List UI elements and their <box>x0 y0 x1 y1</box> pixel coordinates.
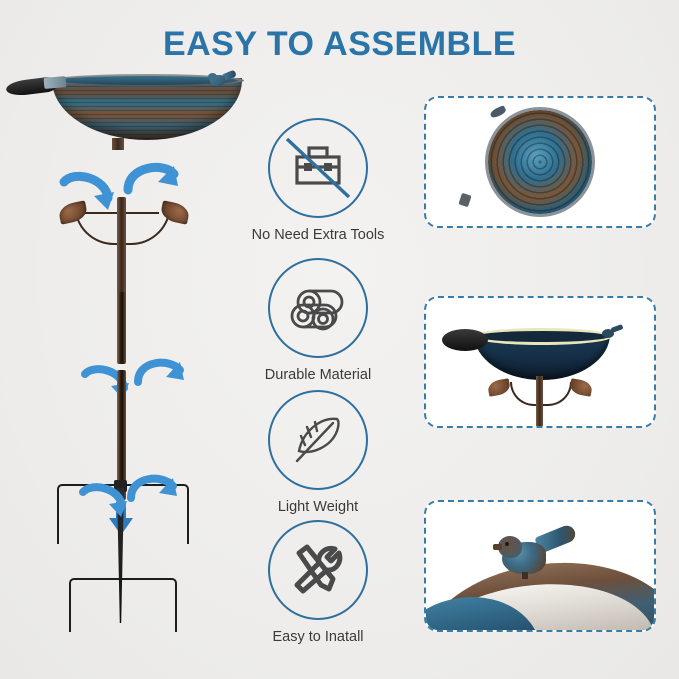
feature-light-weight: Light Weight <box>232 390 404 515</box>
bowl-rim-ring <box>472 328 612 345</box>
leaf-ornament-right <box>569 378 593 397</box>
bird-figurine-icon <box>489 105 507 119</box>
feather-icon <box>268 390 368 490</box>
feature-label: Easy to Inatall <box>232 629 404 645</box>
feature-easy-to-install: Easy to Inatall <box>232 520 404 645</box>
pipes-icon <box>268 258 368 358</box>
panel-bird-closeup <box>424 500 656 632</box>
assembly-step-leaf-pole <box>55 175 195 305</box>
product-photo-panels <box>424 96 656 656</box>
rotate-arrow-icon <box>78 482 130 520</box>
panel-assembled-side-view <box>424 296 656 428</box>
feature-label: Durable Material <box>232 367 404 383</box>
leaf-ornament-left <box>487 378 511 397</box>
page-title: EASY TO ASSEMBLE <box>0 25 679 64</box>
leaf-pole-stem <box>117 197 126 305</box>
bird-figurine-icon <box>208 72 234 86</box>
feature-durable-material: Durable Material <box>232 258 404 383</box>
stake-leg-lower <box>69 578 177 632</box>
bowl-threaded-neck <box>112 138 124 150</box>
rotate-arrow-icon <box>123 468 179 508</box>
panel-bowl-top-view <box>424 96 656 228</box>
support-pole <box>536 376 543 426</box>
feature-label: No Need Extra Tools <box>232 227 404 243</box>
bird-figurine-closeup <box>498 530 576 580</box>
assembly-step-pole-upper <box>117 292 126 364</box>
feature-label: Light Weight <box>232 499 404 515</box>
birdbath-assembly-diagram <box>0 70 245 670</box>
rotate-arrow-icon <box>130 350 186 390</box>
birdbath-bowl-top-view <box>488 110 592 214</box>
solar-panel-bracket <box>44 76 67 89</box>
feature-list: No Need Extra Tools Durab <box>232 118 404 658</box>
no-toolbox-icon <box>268 118 368 218</box>
bowl-drain-spout <box>458 193 471 208</box>
feature-no-extra-tools: No Need Extra Tools <box>232 118 404 243</box>
bird-figurine-icon <box>602 326 622 338</box>
wrench-screwdriver-icon <box>268 520 368 620</box>
birdbath-bowl <box>52 78 242 140</box>
leaf-stem-left <box>85 212 119 214</box>
infographic-stage: EASY TO ASSEMBLE <box>0 0 679 679</box>
solar-panel-icon <box>442 329 488 351</box>
leaf-arm-right <box>542 382 572 406</box>
leaf-stem-right <box>125 212 159 214</box>
